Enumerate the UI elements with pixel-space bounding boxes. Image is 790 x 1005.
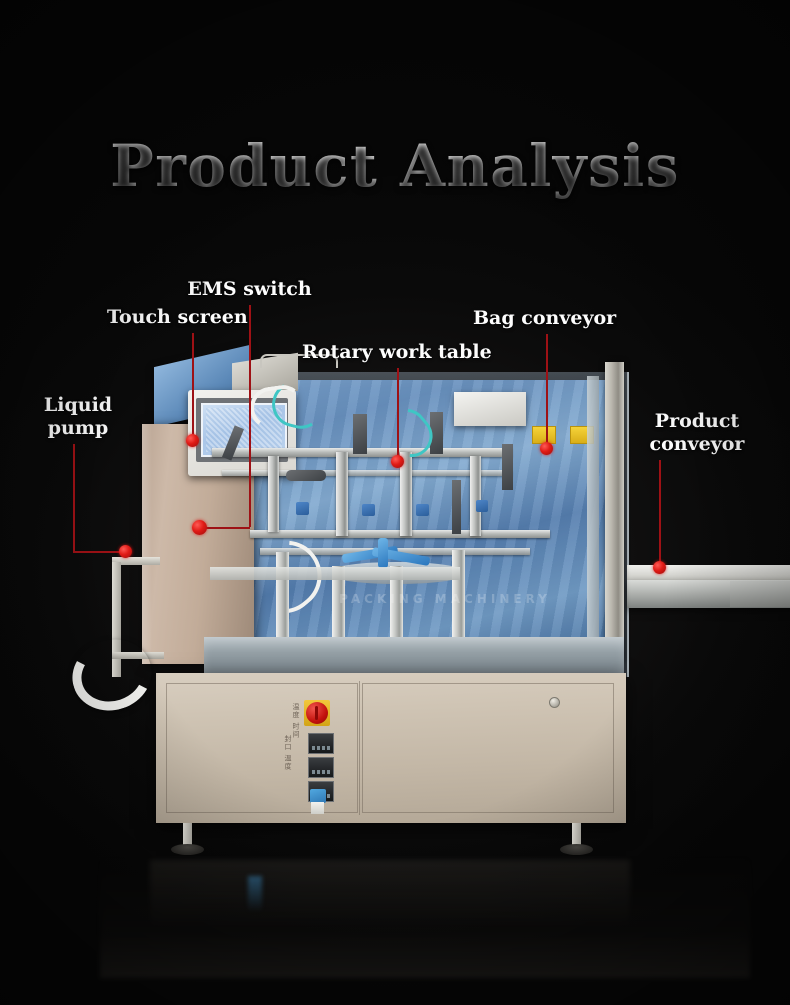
leader-line-liquid-pump-h xyxy=(73,551,125,553)
gripper-hub xyxy=(378,538,388,568)
blue-connector xyxy=(310,789,326,803)
pneumatic-cylinder-1 xyxy=(353,414,367,454)
callout-label-bag-conveyor: Bag conveyor xyxy=(473,307,616,330)
leveling-foot-pad-left xyxy=(171,844,204,855)
callout-dot-touch-screen xyxy=(186,434,199,447)
guard-post-outer xyxy=(605,362,624,662)
work-table-surface xyxy=(204,637,624,673)
callout-dot-rotary-work-table xyxy=(391,455,404,468)
leader-line-product-conveyor xyxy=(659,460,661,567)
callout-label-ems-switch: EMS switch xyxy=(172,278,327,301)
vertical-column-4 xyxy=(470,456,481,536)
temperature-controller-1[interactable] xyxy=(308,733,334,754)
cabinet-seam xyxy=(359,681,360,815)
product-analysis-poster: Product Analysis xyxy=(0,0,790,1005)
panel-text-cn-1: 温度 时间 xyxy=(292,703,300,738)
floor-reflection-highlight xyxy=(150,860,630,930)
upper-rail-2 xyxy=(222,470,512,476)
callout-label-liquid-pump: Liquid pump xyxy=(28,394,128,440)
leader-line-touch-screen xyxy=(192,333,194,440)
infeed-conveyor xyxy=(210,567,460,580)
leader-line-rotary-work-table xyxy=(397,368,399,460)
guard-post-inner xyxy=(587,376,599,648)
blue-fitting-3 xyxy=(416,504,429,516)
leveling-foot-pad-right xyxy=(560,844,593,855)
vertical-column-1 xyxy=(268,456,279,532)
drive-shaft xyxy=(452,480,461,534)
callout-dot-bag-conveyor xyxy=(540,442,553,455)
callout-label-rotary-work-table: Rotary work table xyxy=(302,341,492,364)
callout-label-product-conveyor: Product conveyor xyxy=(637,410,757,456)
callout-dot-product-conveyor xyxy=(653,561,666,574)
callout-dot-liquid-pump xyxy=(119,545,132,558)
bag-conveyor-head xyxy=(454,392,526,426)
blue-fitting-1 xyxy=(296,502,309,515)
base-cabinet: 温度 时间 封口 温度 xyxy=(156,673,626,823)
air-hose-1 xyxy=(286,470,326,481)
hmi-pedestal-column xyxy=(142,424,254,664)
callout-label-touch-screen: Touch screen xyxy=(107,306,248,329)
page-title: Product Analysis xyxy=(0,132,790,200)
temperature-controller-2[interactable] xyxy=(308,757,334,778)
leader-line-liquid-pump-v xyxy=(73,444,75,552)
pneumatic-cylinder-3 xyxy=(502,444,513,490)
panel-text-cn-2: 封口 温度 xyxy=(284,735,292,770)
cabinet-lock[interactable] xyxy=(549,697,560,708)
vertical-column-2 xyxy=(336,452,348,536)
main-power-rotary-switch[interactable] xyxy=(304,700,330,726)
table-leg-3 xyxy=(452,550,465,650)
leader-line-bag-conveyor xyxy=(546,334,548,448)
callout-dot-ems-switch xyxy=(192,520,207,535)
blue-fitting-4 xyxy=(476,500,488,512)
cabinet-door-right[interactable] xyxy=(362,683,614,813)
blue-fitting-2 xyxy=(362,504,375,516)
floor-reflection-blue xyxy=(248,876,262,912)
leader-line-ems-switch xyxy=(249,305,251,527)
conveyor-motor-housing xyxy=(730,581,790,607)
